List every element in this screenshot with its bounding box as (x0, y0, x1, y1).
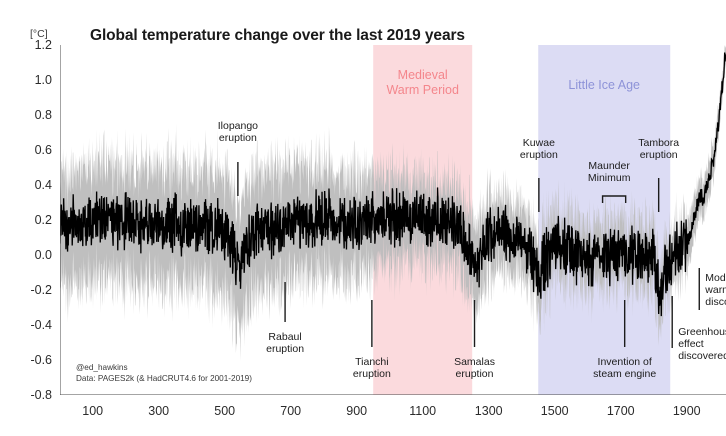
y-tick-0_2: 0.2 (35, 213, 52, 227)
x-axis-tick-labels: 10030050070090011001300150017001900 (60, 398, 726, 428)
chart-title: Global temperature change over the last … (90, 27, 465, 45)
x-tick-1100: 1100 (409, 404, 436, 418)
band-label-lia: Little Ice Age (524, 78, 684, 93)
x-tick-1700: 1700 (607, 404, 635, 418)
annotation-samalas: Samalas eruption (454, 356, 495, 380)
chart-root: [°C] Global temperature change over the … (0, 0, 726, 436)
annotation-steam-engine: Invention of steam engine (593, 356, 656, 380)
x-tick-100: 100 (82, 404, 103, 418)
annotation-rabaul: Rabaul eruption (266, 331, 304, 355)
y-tick-1_2: 1.2 (35, 38, 52, 52)
x-tick-900: 900 (346, 404, 367, 418)
y-tick-0_4: 0.4 (35, 178, 52, 192)
y-tick--0_6: -0.6 (30, 353, 52, 367)
y-tick-0_6: 0.6 (35, 143, 52, 157)
annotation-maunder: Maunder Minimum (588, 160, 631, 184)
x-tick-500: 500 (214, 404, 235, 418)
annotation-tambora: Tambora eruption (638, 137, 679, 161)
annotation-ilopango: Ilopango eruption (218, 120, 258, 144)
annotation-tianchi: Tianchi eruption (353, 356, 391, 380)
annotation-kuwae: Kuwae eruption (520, 137, 558, 161)
x-tick-1300: 1300 (475, 404, 503, 418)
y-tick-0: 0.0 (35, 248, 52, 262)
y-tick-0_8: 0.8 (35, 108, 52, 122)
band-label-mwp: Medieval Warm Period (343, 68, 503, 98)
annotation-modern-warming: Modern warming discovered (705, 272, 726, 309)
y-tick-1: 1.0 (35, 73, 52, 87)
credit-block: @ed_hawkins Data: PAGES2k (& HadCRUT4.6 … (76, 363, 252, 384)
x-tick-1500: 1500 (541, 404, 569, 418)
y-tick--0_2: -0.2 (30, 283, 52, 297)
y-axis-tick-labels: 1.21.00.80.60.40.20.0-0.2-0.4-0.6-0.8 (0, 45, 52, 395)
annotation-greenhouse: Greenhouse effect discovered (678, 326, 726, 363)
x-tick-300: 300 (148, 404, 169, 418)
y-tick--0_4: -0.4 (30, 318, 52, 332)
y-tick--0_8: -0.8 (30, 388, 52, 402)
x-tick-700: 700 (280, 404, 301, 418)
x-tick-1900: 1900 (673, 404, 701, 418)
